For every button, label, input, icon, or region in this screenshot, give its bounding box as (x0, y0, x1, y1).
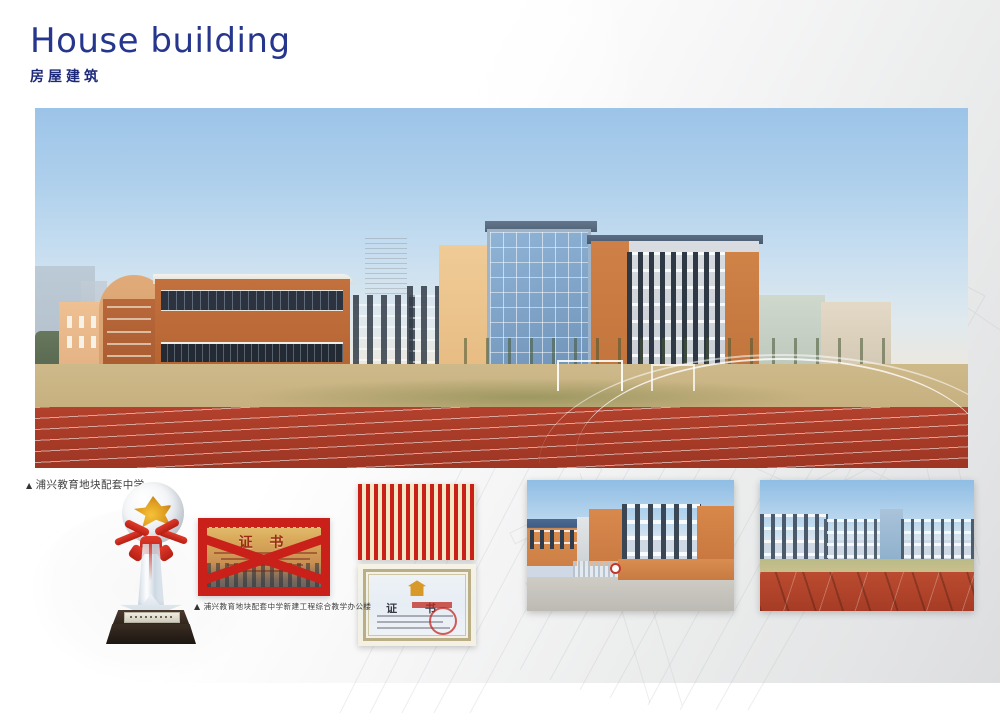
certificates-caption: ▲浦兴教育地块配套中学新建工程综合教学办公楼 (194, 601, 371, 612)
certificate-red-seal (429, 607, 457, 635)
certificates-caption-text: 浦兴教育地块配套中学新建工程综合教学办公楼 (204, 602, 372, 611)
track-lane-lines (760, 572, 974, 611)
main-white-building (622, 504, 701, 567)
trophy-base-lower (106, 624, 196, 644)
page-header: House building 房屋建筑 (30, 24, 291, 86)
certificate-red-frame: 证 书 (198, 518, 330, 596)
hero-campus-photo (35, 108, 968, 468)
caption-triangle-icon: ▲ (26, 481, 33, 490)
gymnasium-lower-windows (161, 342, 343, 362)
campus-entrance-photo (527, 480, 734, 611)
gymnasium-upper-windows (161, 290, 343, 311)
right-classroom-block (901, 519, 974, 561)
orange-side-wing (697, 506, 734, 566)
entrance-pavement (527, 577, 734, 611)
left-classroom-block (760, 514, 828, 561)
glass-stair-tower (880, 509, 904, 561)
crystal-award-trophy (100, 482, 200, 647)
certificate-dotted-border: 证 书 (358, 484, 476, 560)
campus-track-photo (760, 480, 974, 611)
trophy-nameplate (124, 612, 180, 623)
page-subtitle: 房屋建筑 (30, 66, 291, 86)
caption-triangle-icon: ▲ (194, 602, 201, 611)
background-highrise (365, 238, 407, 296)
certificate-diploma-blue: 证 书 (358, 564, 476, 646)
mid-building-1 (353, 295, 415, 374)
certificate-dotted-frame-border (358, 484, 476, 560)
campus-perimeter-wall (618, 559, 734, 580)
center-classroom-block (824, 519, 884, 561)
running-track (760, 572, 974, 611)
no-entry-sign-icon (610, 563, 621, 574)
page-title: House building (30, 24, 291, 60)
